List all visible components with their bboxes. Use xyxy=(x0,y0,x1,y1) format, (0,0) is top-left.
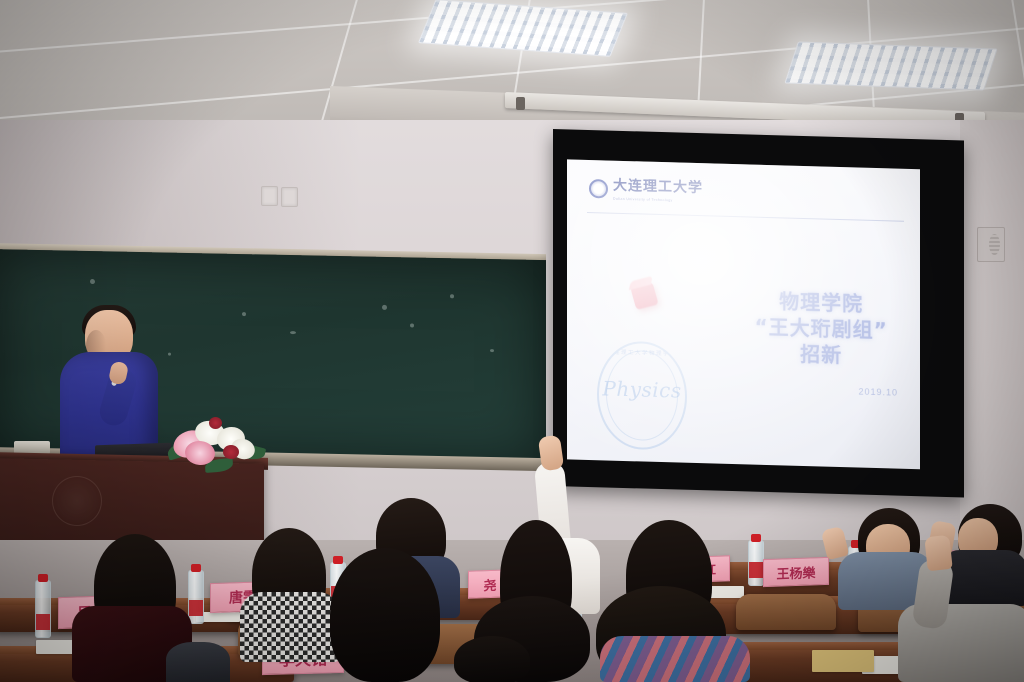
applauding-hand-3 xyxy=(924,535,952,571)
physics-seal-word: Physics xyxy=(602,376,681,402)
bottle-label xyxy=(749,562,763,578)
bottle-cap xyxy=(38,574,48,582)
slide-surface: 大连理工大学 Dalian University of Technology 物… xyxy=(567,159,920,469)
bottle-cap xyxy=(333,556,343,564)
student-head-front-6 xyxy=(454,636,530,682)
slide-title-line3: 招新 xyxy=(722,339,920,371)
side-wall-right xyxy=(960,120,1024,550)
lecture-hall-photo: 大连理工大学 Dalian University of Technology 物… xyxy=(0,0,1024,682)
slide-title: 物理学院 “王大珩剧组” 招新 xyxy=(722,287,920,371)
podium-emblem-icon xyxy=(52,476,102,526)
namecard-wangyangle: 王杨樂 xyxy=(763,557,829,587)
university-seal-icon xyxy=(589,179,608,199)
notebook-yellow[interactable] xyxy=(812,650,874,672)
light-switch-2[interactable] xyxy=(281,187,298,207)
light-switch-1[interactable] xyxy=(261,186,278,206)
physics-seal-ring-text: 大连理工大学物理学院 xyxy=(599,347,685,357)
student-head-front-5 xyxy=(166,642,230,682)
slide-divider xyxy=(587,212,904,222)
bottle-label xyxy=(36,614,50,630)
bottle-cap xyxy=(751,534,761,542)
pink-cube-icon xyxy=(630,282,658,310)
university-name-en: Dalian University of Technology xyxy=(613,197,703,204)
physics-seal-icon: 大连理工大学物理学院 Physics xyxy=(597,340,687,451)
screen-bracket-left xyxy=(516,97,525,110)
flower-bouquet xyxy=(165,415,275,470)
water-bottle-1[interactable] xyxy=(35,580,51,638)
projection-screen: 大连理工大学 Dalian University of Technology 物… xyxy=(553,129,964,497)
student-head-front-2 xyxy=(330,548,440,682)
water-bottle-2[interactable] xyxy=(188,570,204,624)
bottle-cap xyxy=(191,564,201,572)
chair-4 xyxy=(736,594,836,630)
wall-speaker-icon xyxy=(977,227,1005,262)
university-logo: 大连理工大学 Dalian University of Technology xyxy=(589,176,703,203)
university-name-cn: 大连理工大学 xyxy=(613,178,703,197)
slide-date: 2019.10 xyxy=(858,387,898,398)
student-torso-mid-3 xyxy=(240,592,340,662)
ceiling-light-right xyxy=(784,41,997,90)
water-bottle-5[interactable] xyxy=(748,540,764,586)
student-torso-front-4 xyxy=(600,636,750,682)
bottle-label xyxy=(189,600,203,616)
